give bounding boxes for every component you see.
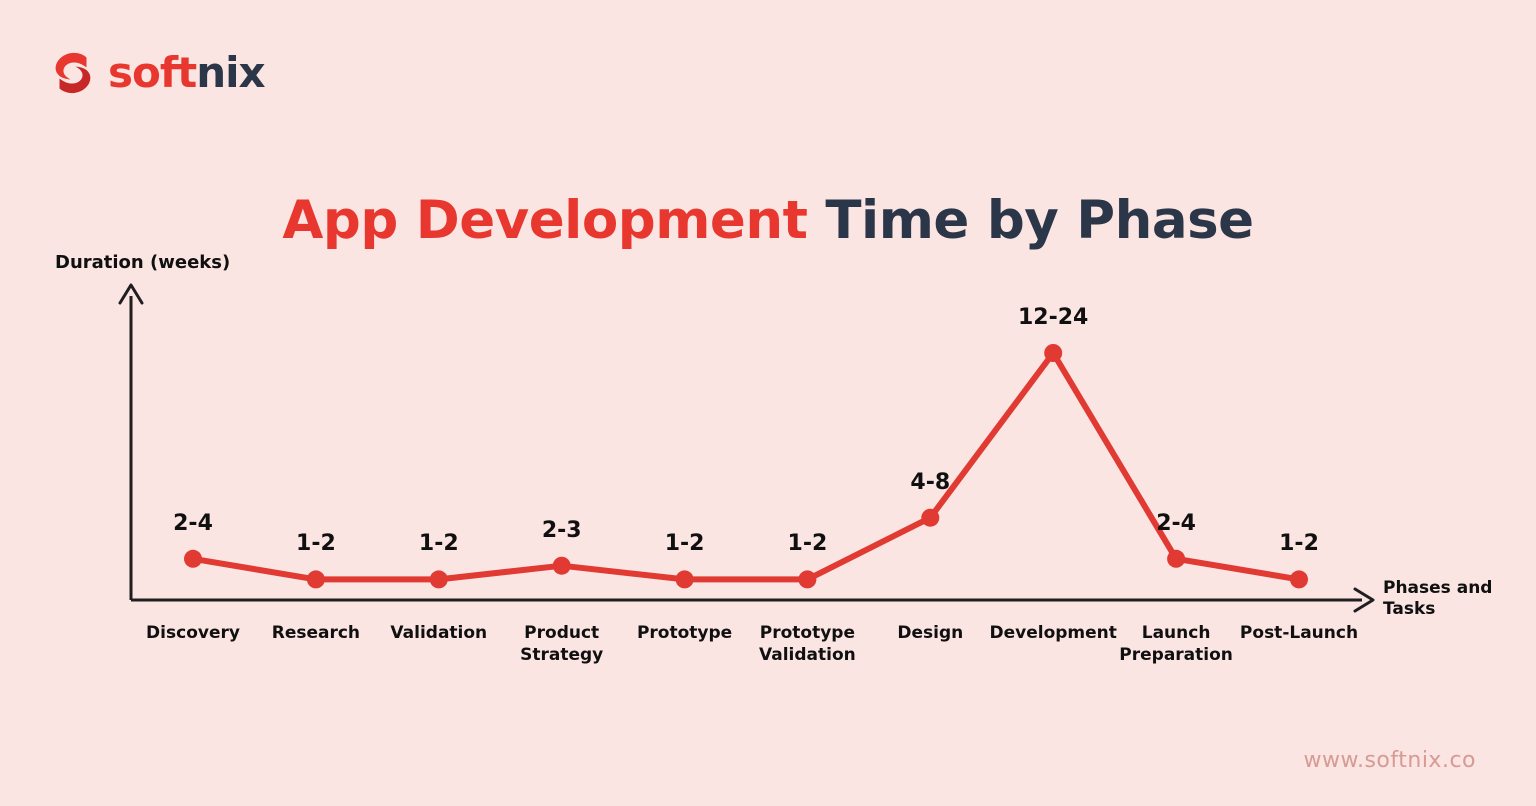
x-axis-tick-label-line: Research (272, 622, 360, 644)
x-axis-tick-label: LaunchPreparation (1119, 622, 1233, 666)
x-axis-tick-label: Design (897, 622, 963, 644)
data-point-marker[interactable] (1044, 344, 1062, 362)
x-axis-tick-label: Prototype (637, 622, 732, 644)
data-value-label: 1-2 (788, 531, 828, 556)
data-point-marker[interactable] (1167, 550, 1185, 568)
data-point-marker[interactable] (921, 509, 939, 527)
x-axis-tick-label-line: Post-Launch (1240, 622, 1358, 644)
x-axis-tick-label-line: Design (897, 622, 963, 644)
x-axis-tick-label: ProductStrategy (520, 622, 603, 666)
x-axis-tick-label: Discovery (146, 622, 240, 644)
data-value-label: 12-24 (1018, 305, 1088, 330)
x-axis-tick-label-line: Launch (1119, 622, 1233, 644)
x-axis-tick-label-line: Validation (390, 622, 487, 644)
x-axis-tick-label-line: Preparation (1119, 644, 1233, 666)
x-axis-tick-label: PrototypeValidation (759, 622, 856, 666)
data-point-marker[interactable] (430, 570, 448, 588)
data-point-marker[interactable] (553, 557, 571, 575)
data-point-marker[interactable] (184, 550, 202, 568)
data-point-markers (184, 344, 1308, 588)
x-axis-tick-label: Research (272, 622, 360, 644)
data-value-label: 2-4 (173, 511, 213, 536)
line-chart-plot (0, 0, 1536, 806)
data-value-label: 2-4 (1156, 511, 1196, 536)
x-axis-tick-label-line: Validation (759, 644, 856, 666)
data-point-marker[interactable] (307, 570, 325, 588)
data-value-label: 1-2 (1279, 531, 1319, 556)
footer-website-url: www.softnix.co (1304, 748, 1476, 773)
data-value-label: 4-8 (910, 470, 950, 495)
x-axis-tick-label: Development (989, 622, 1116, 644)
x-axis-tick-label-line: Development (989, 622, 1116, 644)
x-axis-tick-label-line: Prototype (637, 622, 732, 644)
x-axis-tick-label-line: Product (520, 622, 603, 644)
x-axis-tick-label: Post-Launch (1240, 622, 1358, 644)
chart-canvas: softnix App Development Time by Phase Du… (0, 0, 1536, 806)
x-axis-tick-label-line: Strategy (520, 644, 603, 666)
data-point-marker[interactable] (676, 570, 694, 588)
x-axis-tick-label-line: Prototype (759, 622, 856, 644)
data-value-label: 2-3 (542, 518, 582, 543)
data-value-label: 1-2 (296, 531, 336, 556)
data-series-line (193, 353, 1299, 579)
data-value-label: 1-2 (665, 531, 705, 556)
data-point-marker[interactable] (1290, 570, 1308, 588)
data-value-label: 1-2 (419, 531, 459, 556)
data-point-marker[interactable] (798, 570, 816, 588)
x-axis-tick-label: Validation (390, 622, 487, 644)
x-axis-tick-label-line: Discovery (146, 622, 240, 644)
